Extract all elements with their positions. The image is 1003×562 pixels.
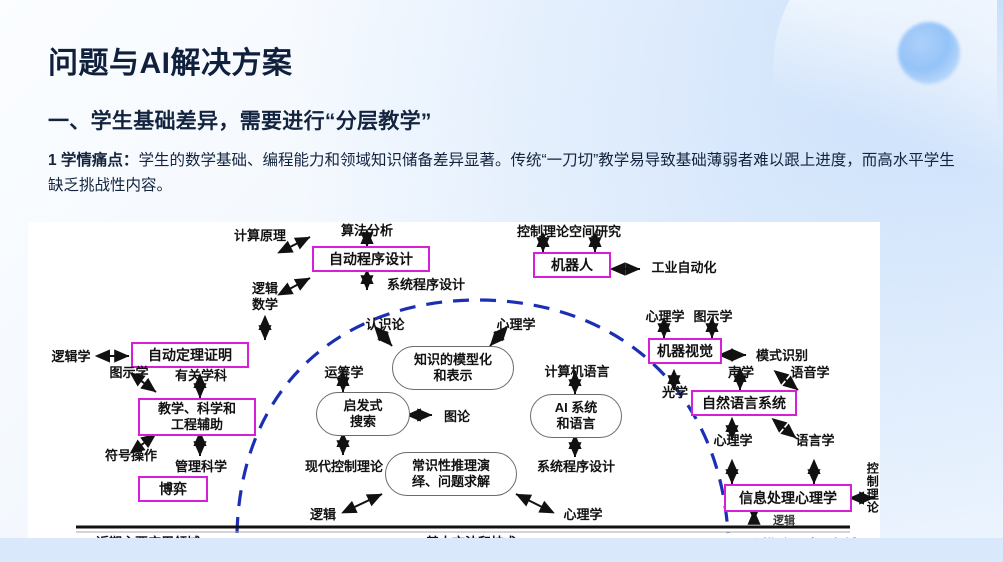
label-acoustics: 声学: [718, 362, 764, 381]
label-computing-principles: 计算原理: [224, 225, 296, 244]
node-label: 常识性推理演 绎、问题求解: [412, 458, 490, 491]
label-graphics-right: 图示学: [684, 306, 742, 325]
label-graphics-left: 图示学: [100, 362, 158, 381]
label-text: 逻辑学: [51, 346, 90, 365]
node-auto-program-design[interactable]: 自动程序设计: [312, 246, 430, 272]
label-text: 声学: [728, 362, 754, 381]
node-label: 博弈: [159, 479, 187, 499]
label-psychology-right-mid: 心理学: [704, 430, 762, 449]
label-text: 认识论: [365, 314, 404, 333]
label-text: 现代控制理论: [305, 456, 383, 475]
bottom-accent-band: [0, 538, 1003, 562]
label-text: 语音学: [790, 362, 829, 381]
decorative-circle: [898, 22, 960, 84]
label-text: 语言学: [795, 430, 834, 449]
label-optics: 光学: [652, 382, 698, 401]
label-system-programming-left: 系统程序设计: [380, 274, 472, 293]
node-label: 教学、科学和 工程辅助: [158, 401, 236, 432]
node-knowledge-modeling[interactable]: 知识的模型化 和表示: [392, 346, 514, 390]
label-phonetics: 语音学: [782, 362, 838, 381]
label-epistemology: 认识论: [356, 314, 414, 333]
label-logic-studies: 逻辑学: [42, 346, 100, 365]
label-text: 运筹学: [324, 362, 363, 381]
label-text: 图论: [444, 406, 470, 425]
node-commonsense-reasoning[interactable]: 常识性推理演 绎、问题求解: [385, 452, 517, 496]
label-text: 逻辑: [310, 504, 336, 523]
label-control-theory-vertical: 控制理论: [864, 462, 880, 514]
label-psychology-center-bottom: 心理学: [554, 504, 612, 523]
node-natural-language-system[interactable]: 自然语言系统: [691, 390, 797, 416]
label-text: 光学: [662, 382, 688, 401]
node-label: 自然语言系统: [702, 393, 786, 413]
label-text: 图示学: [109, 362, 148, 381]
label-text: 有关学科: [175, 365, 227, 384]
node-robot[interactable]: 机器人: [533, 252, 611, 278]
node-label: AI 系统 和语言: [555, 400, 598, 433]
label-psychology-center-top: 心理学: [487, 314, 545, 333]
label-symbol-manipulation: 符号操作: [98, 445, 164, 464]
node-machine-vision[interactable]: 机器视觉: [648, 338, 722, 364]
label-algorithm-analysis: 算法分析: [331, 220, 403, 239]
label-text: 系统程序设计: [537, 456, 615, 475]
label-graph-theory: 图论: [434, 406, 480, 425]
label-management-science: 管理科学: [168, 456, 234, 475]
decorative-right-edge: [997, 0, 1003, 130]
node-label: 自动程序设计: [329, 249, 413, 269]
label-computer-language: 计算机语言: [532, 361, 622, 380]
label-linguistics: 语言学: [786, 430, 844, 449]
label-text: 系统程序设计: [387, 274, 465, 293]
label-text: 空间研究: [569, 221, 621, 240]
section-subtitle: 一、学生基础差异，需要进行“分层教学”: [48, 105, 432, 135]
label-operations-research: 运筹学: [315, 362, 373, 381]
node-ai-systems-languages[interactable]: AI 系统 和语言: [530, 394, 622, 438]
label-related-disciplines: 有关学科: [168, 365, 234, 384]
node-heuristic-search[interactable]: 启发式 搜索: [316, 392, 410, 436]
slide-canvas: 问题与AI解决方案 一、学生基础差异，需要进行“分层教学” 1 学情痛点：学生的…: [0, 0, 1003, 562]
label-logic-center-bottom: 逻辑: [300, 504, 346, 523]
node-teaching-science-engineering-aid[interactable]: 教学、科学和 工程辅助: [138, 398, 256, 436]
label-logic-right-bottom: 逻辑: [764, 512, 804, 528]
label-text: 心理学: [563, 504, 602, 523]
label-logic-math: 逻辑 数学: [234, 281, 296, 314]
label-text: 逻辑: [773, 512, 795, 528]
label-text: 逻辑 数学: [252, 281, 278, 314]
node-label: 机器视觉: [657, 341, 713, 361]
label-text: 控制理论: [866, 462, 879, 514]
label-modern-control-theory: 现代控制理论: [292, 456, 396, 475]
label-system-programming-center: 系统程序设计: [530, 456, 622, 475]
label-text: 心理学: [645, 306, 684, 325]
label-text: 计算原理: [234, 225, 286, 244]
label-industrial-automation: 工业自动化: [640, 257, 728, 276]
label-text: 计算机语言: [544, 361, 609, 380]
label-text: 工业自动化: [651, 257, 716, 276]
label-text: 算法分析: [341, 220, 393, 239]
ai-discipline-diagram: 自动程序设计 自动定理证明 教学、科学和 工程辅助 博弈 机器人 机器视觉 自然…: [28, 222, 880, 552]
paragraph-lead: 1 学情痛点：: [48, 152, 138, 169]
label-text: 符号操作: [105, 445, 157, 464]
label-space-research: 空间研究: [559, 221, 631, 240]
node-label: 知识的模型化 和表示: [414, 352, 492, 385]
node-game-theory[interactable]: 博弈: [138, 476, 208, 502]
label-text: 管理科学: [175, 456, 227, 475]
node-label: 信息处理心理学: [739, 488, 837, 508]
node-label: 自动定理证明: [148, 345, 232, 365]
node-label: 机器人: [551, 255, 593, 275]
label-text: 心理学: [713, 430, 752, 449]
label-text: 心理学: [496, 314, 535, 333]
paragraph-body: 学生的数学基础、编程能力和领域知识储备差异显著。传统“一刀切”教学易导致基础薄弱…: [48, 152, 955, 194]
body-paragraph: 1 学情痛点：学生的数学基础、编程能力和领域知识储备差异显著。传统“一刀切”教学…: [48, 148, 966, 198]
node-information-processing-psychology[interactable]: 信息处理心理学: [724, 484, 852, 512]
page-title: 问题与AI解决方案: [48, 38, 293, 82]
node-label: 启发式 搜索: [343, 398, 382, 431]
label-text: 图示学: [693, 306, 732, 325]
